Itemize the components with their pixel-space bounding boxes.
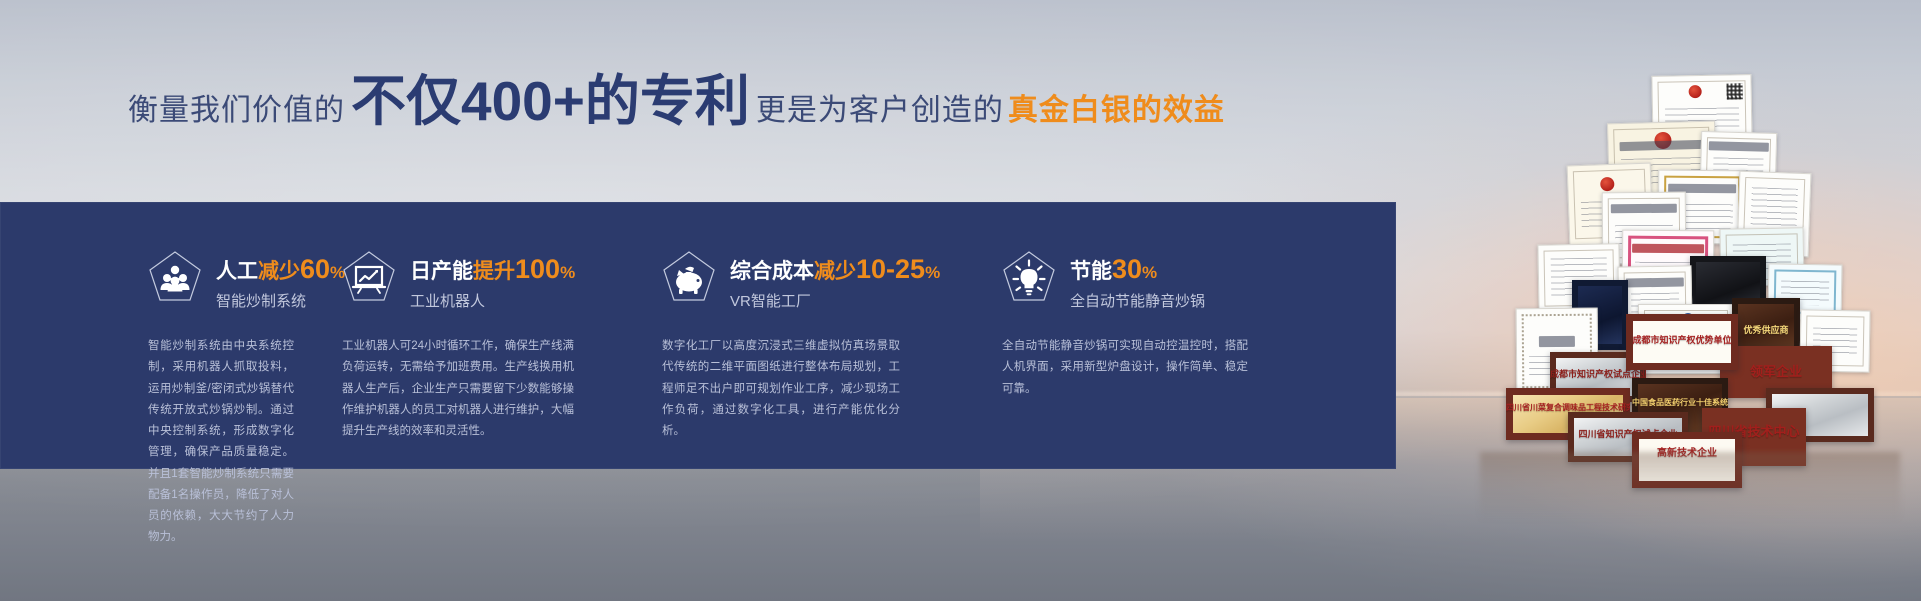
feature-card-body: 全自动节能静音炒锅可实现自动控温控时，搭配人机界面，采用新型炉盘设计，操作简单、… (1002, 336, 1248, 400)
feature-card-capacity[interactable]: 日产能提升100% 工业机器人 工业机器人可24小时循环工作，确保生产线满负荷运… (320, 202, 640, 469)
feature-card-subtitle: 全自动节能静音炒锅 (1070, 290, 1205, 311)
feature-card-header: 人工减少60% 智能炒制系统 (148, 254, 294, 316)
feature-card-header: 节能30% 全自动节能静音炒锅 (1002, 254, 1294, 316)
headline-lead: 衡量我们价值的 (128, 85, 345, 129)
feature-card-list: 人工减少60% 智能炒制系统 智能炒制系统由中央系统控制，采用机器人抓取投料，运… (0, 202, 1396, 469)
award-plaque: 成都市知识产权优势单位 (1626, 314, 1738, 370)
feature-card-header: 综合成本减少10-25% VR智能工厂 (662, 254, 954, 316)
feature-card-titles: 日产能提升100% 工业机器人 (410, 254, 575, 311)
banner-stage: 衡量我们价值的 不仅400+的专利 更是为客户创造的 真金白银的效益 (0, 0, 1921, 601)
lightbulb-icon (1002, 250, 1056, 306)
headline-emphasis: 不仅400+的专利 (345, 74, 756, 129)
feature-card-title: 节能30% (1070, 254, 1205, 285)
feature-card-subtitle: 工业机器人 (410, 290, 575, 311)
feature-card-energy[interactable]: 节能30% 全自动节能静音炒锅 全自动节能静音炒锅可实现自动控温控时，搭配人机界… (980, 202, 1320, 469)
award-plaque-label: 成都市知识产权优势单位 (1626, 333, 1738, 346)
feature-card-title: 综合成本减少10-25% (730, 254, 940, 285)
award-plaque-label: 四川省川菜复合调味品工程技术研究中心 (1506, 402, 1630, 413)
feature-card-subtitle: VR智能工厂 (730, 290, 940, 311)
feature-card-body: 工业机器人可24小时循环工作，确保生产线满负荷运转，无需给予加班费用。生产线换用… (342, 336, 574, 442)
people-group-icon (148, 250, 202, 306)
headline: 衡量我们价值的 不仅400+的专利 更是为客户创造的 真金白银的效益 (128, 74, 1225, 136)
feature-card-titles: 节能30% 全自动节能静音炒锅 (1070, 254, 1205, 311)
headline-accent: 真金白银的效益 (1004, 85, 1225, 129)
award-plaque-label: 优秀供应商 (1732, 323, 1800, 336)
feature-card-titles: 综合成本减少10-25% VR智能工厂 (730, 254, 940, 311)
chart-board-icon (342, 250, 396, 306)
certificate-pile: 优秀供应商 成都市知识产权试点企业 领军企业 四川省川菜复合调味品工程技术研究中… (1380, 40, 1921, 485)
feature-card-labor[interactable]: 人工减少60% 智能炒制系统 智能炒制系统由中央系统控制，采用机器人抓取投料，运… (0, 202, 320, 469)
feature-card-cost[interactable]: 综合成本减少10-25% VR智能工厂 数字化工厂以高度沉浸式三维虚拟仿真场景取… (640, 202, 980, 469)
feature-card-body: 智能炒制系统由中央系统控制，采用机器人抓取投料，运用炒制釜/密闭式炒锅替代传统开… (148, 336, 294, 549)
headline-middle: 更是为客户创造的 (756, 85, 1004, 129)
award-plaque-label: 中国食品医药行业十佳系统集成商 (1632, 397, 1728, 408)
pile-reflection (1480, 452, 1900, 522)
piggy-bank-icon (662, 250, 716, 306)
feature-card-header: 日产能提升100% 工业机器人 (342, 254, 614, 316)
feature-card-title: 日产能提升100% (410, 254, 575, 285)
feature-card-body: 数字化工厂以高度沉浸式三维虚拟仿真场景取代传统的二维平面图纸进行整体布局规划，工… (662, 336, 900, 442)
